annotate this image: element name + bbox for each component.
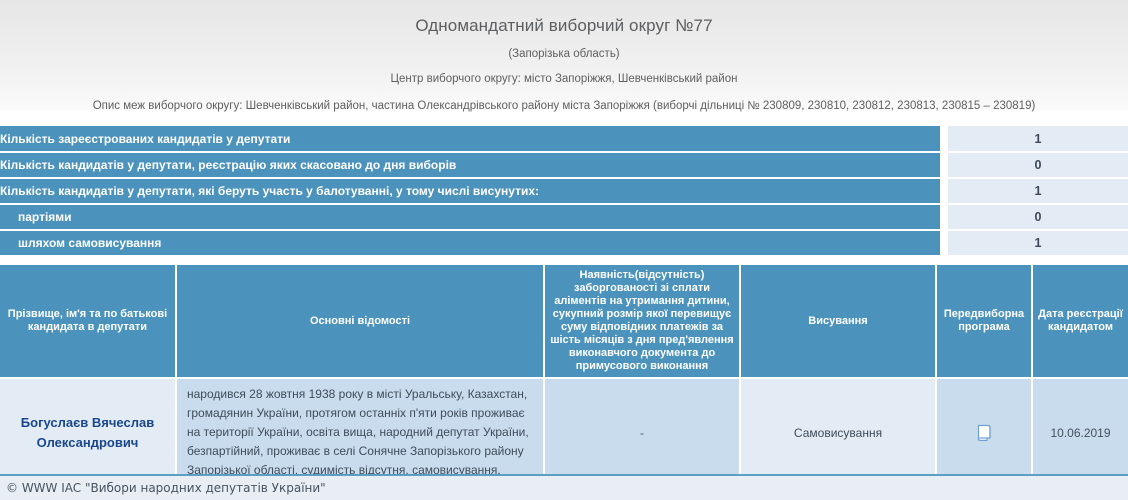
district-bounds-line: Опис меж виборчого округу: Шевченківськи… <box>0 86 1128 113</box>
column-header-info: Основні відомості <box>176 265 544 378</box>
summary-gap <box>940 152 948 178</box>
district-header: Одномандатний виборчий округ №77 (Запорі… <box>0 0 1128 113</box>
document-icon[interactable] <box>975 423 993 443</box>
table-row: Кількість кандидатів у депутати, реєстра… <box>0 152 1128 178</box>
summary-label: партіями <box>0 204 940 230</box>
summary-gap <box>940 126 948 152</box>
table-row: Богуслаєв Вячеслав Олександрович народив… <box>0 378 1128 486</box>
candidate-registration-date: 10.06.2019 <box>1032 378 1128 486</box>
summary-value: 1 <box>948 230 1128 256</box>
candidate-info: народився 28 жовтня 1938 року в місті Ур… <box>176 378 544 486</box>
footer-copyright: © WWW IAC "Вибори народних депутатів Укр… <box>0 481 326 495</box>
candidate-name: Богуслаєв Вячеслав Олександрович <box>0 378 176 486</box>
candidate-alimony-status: - <box>544 378 740 486</box>
summary-gap <box>940 204 948 230</box>
table-row: Кількість кандидатів у депутати, які бер… <box>0 178 1128 204</box>
column-header-alimony: Наявність(відсутність) заборгованості зі… <box>544 265 740 378</box>
region-subtitle: (Запорізька область) <box>0 37 1128 61</box>
candidate-program-cell[interactable] <box>936 378 1032 486</box>
table-row: шляхом самовисування 1 <box>0 230 1128 256</box>
summary-value: 0 <box>948 204 1128 230</box>
column-header-date: Дата реєстрації кандидатом <box>1032 265 1128 378</box>
summary-value: 0 <box>948 152 1128 178</box>
summary-value: 1 <box>948 126 1128 152</box>
column-header-name: Прізвище, ім'я та по батькові кандидата … <box>0 265 176 378</box>
summary-label: Кількість кандидатів у депутати, які бер… <box>0 178 940 204</box>
district-center-line: Центр виборчого округу: місто Запоріжжя,… <box>0 61 1128 86</box>
candidates-table: Прізвище, ім'я та по батькові кандидата … <box>0 265 1128 486</box>
footer-bar: © WWW IAC "Вибори народних депутатів Укр… <box>0 474 1128 500</box>
summary-gap <box>940 178 948 204</box>
summary-label: Кількість зареєстрованих кандидатів у де… <box>0 126 940 152</box>
page-container: Одномандатний виборчий округ №77 (Запорі… <box>0 0 1128 500</box>
summary-gap <box>940 230 948 256</box>
candidate-nomination: Самовисування <box>740 378 936 486</box>
summary-value: 1 <box>948 178 1128 204</box>
table-row: партіями 0 <box>0 204 1128 230</box>
table-row: Кількість зареєстрованих кандидатів у де… <box>0 126 1128 152</box>
table-header-row: Прізвище, ім'я та по батькові кандидата … <box>0 265 1128 378</box>
column-header-nomination: Висування <box>740 265 936 378</box>
summary-label: шляхом самовисування <box>0 230 940 256</box>
summary-label: Кількість кандидатів у депутати, реєстра… <box>0 152 940 178</box>
summary-table: Кількість зареєстрованих кандидатів у де… <box>0 126 1128 257</box>
column-header-program: Передвиборна програма <box>936 265 1032 378</box>
page-title: Одномандатний виборчий округ №77 <box>0 12 1128 37</box>
